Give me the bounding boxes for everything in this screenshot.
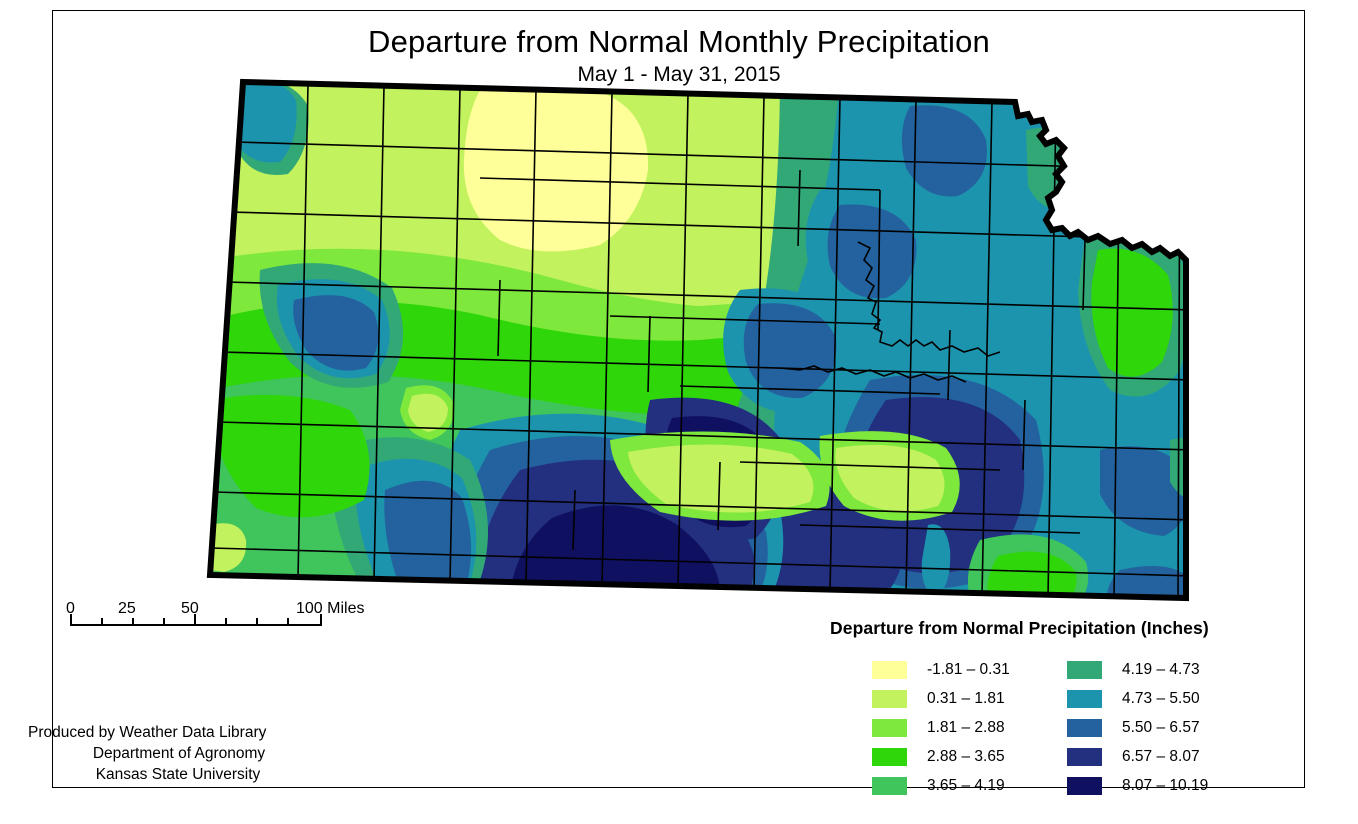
scale-bar: 0 25 50 100 Miles [66, 600, 406, 636]
scale-tick-50 [194, 614, 196, 625]
scale-tick-25 [132, 618, 134, 625]
legend-swatch [1067, 661, 1102, 679]
legend-title: Departure from Normal Precipitation (Inc… [830, 618, 1330, 639]
legend-column-right: 4.19 – 4.73 4.73 – 5.50 5.50 – 6.57 6.57… [1067, 655, 1262, 800]
legend-label: -1.81 – 0.31 [927, 661, 1010, 679]
kansas-precipitation-map [180, 70, 1220, 615]
legend-item: 4.73 – 5.50 [1067, 684, 1262, 713]
attribution-line-3: Kansas State University [28, 764, 358, 785]
scale-tick-75 [256, 618, 258, 625]
legend-label: 4.73 – 5.50 [1122, 690, 1200, 708]
legend-label: 3.65 – 4.19 [927, 777, 1005, 795]
scale-tick-0 [70, 614, 72, 625]
page-title: Departure from Normal Monthly Precipitat… [0, 24, 1358, 60]
legend-swatch [872, 748, 907, 766]
legend-label: 8.07 – 10.19 [1122, 777, 1208, 795]
legend-swatch [1067, 719, 1102, 737]
contour-east-green-core [1091, 248, 1172, 376]
legend-label: 2.88 – 3.65 [927, 748, 1005, 766]
legend-swatch [1067, 748, 1102, 766]
scale-label-25: 25 [118, 600, 136, 618]
legend-label: 5.50 – 6.57 [1122, 719, 1200, 737]
legend-swatch [872, 777, 907, 795]
scale-tick-37 [163, 618, 165, 625]
legend-swatch [872, 690, 907, 708]
legend-label: 1.81 – 2.88 [927, 719, 1005, 737]
scale-tick-62 [225, 618, 227, 625]
scale-tick-87 [287, 618, 289, 625]
contour-sw-blue-band [384, 481, 471, 615]
legend-item: 0.31 – 1.81 [872, 684, 1067, 713]
legend-swatch [872, 661, 907, 679]
legend-item: -1.81 – 0.31 [872, 655, 1067, 684]
scale-bar-line [70, 624, 322, 626]
legend-label: 0.31 – 1.81 [927, 690, 1005, 708]
legend-item: 3.65 – 4.19 [872, 771, 1067, 800]
contour--1.81-0.31 [464, 85, 648, 251]
legend: Departure from Normal Precipitation (Inc… [830, 618, 1330, 800]
contour-se-green-core [987, 552, 1076, 615]
attribution: Produced by Weather Data Library Departm… [28, 722, 358, 785]
attribution-line-2: Department of Agronomy [28, 743, 358, 764]
scale-label-100: 100 Miles [296, 600, 364, 618]
legend-column-left: -1.81 – 0.31 0.31 – 1.81 1.81 – 2.88 2.8… [872, 655, 1067, 800]
legend-item: 8.07 – 10.19 [1067, 771, 1262, 800]
legend-item: 4.19 – 4.73 [1067, 655, 1262, 684]
legend-label: 6.57 – 8.07 [1122, 748, 1200, 766]
legend-swatch [1067, 777, 1102, 795]
scale-tick-100 [320, 614, 322, 625]
legend-swatch [872, 719, 907, 737]
scale-tick-12 [101, 618, 103, 625]
attribution-line-1: Produced by Weather Data Library [28, 722, 358, 743]
legend-item: 1.81 – 2.88 [872, 713, 1067, 742]
legend-item: 5.50 – 6.57 [1067, 713, 1262, 742]
legend-swatch [1067, 690, 1102, 708]
legend-item: 6.57 – 8.07 [1067, 742, 1262, 771]
legend-item: 2.88 – 3.65 [872, 742, 1067, 771]
scale-label-50: 50 [181, 600, 199, 618]
map-svg [180, 70, 1220, 615]
legend-label: 4.19 – 4.73 [1122, 661, 1200, 679]
